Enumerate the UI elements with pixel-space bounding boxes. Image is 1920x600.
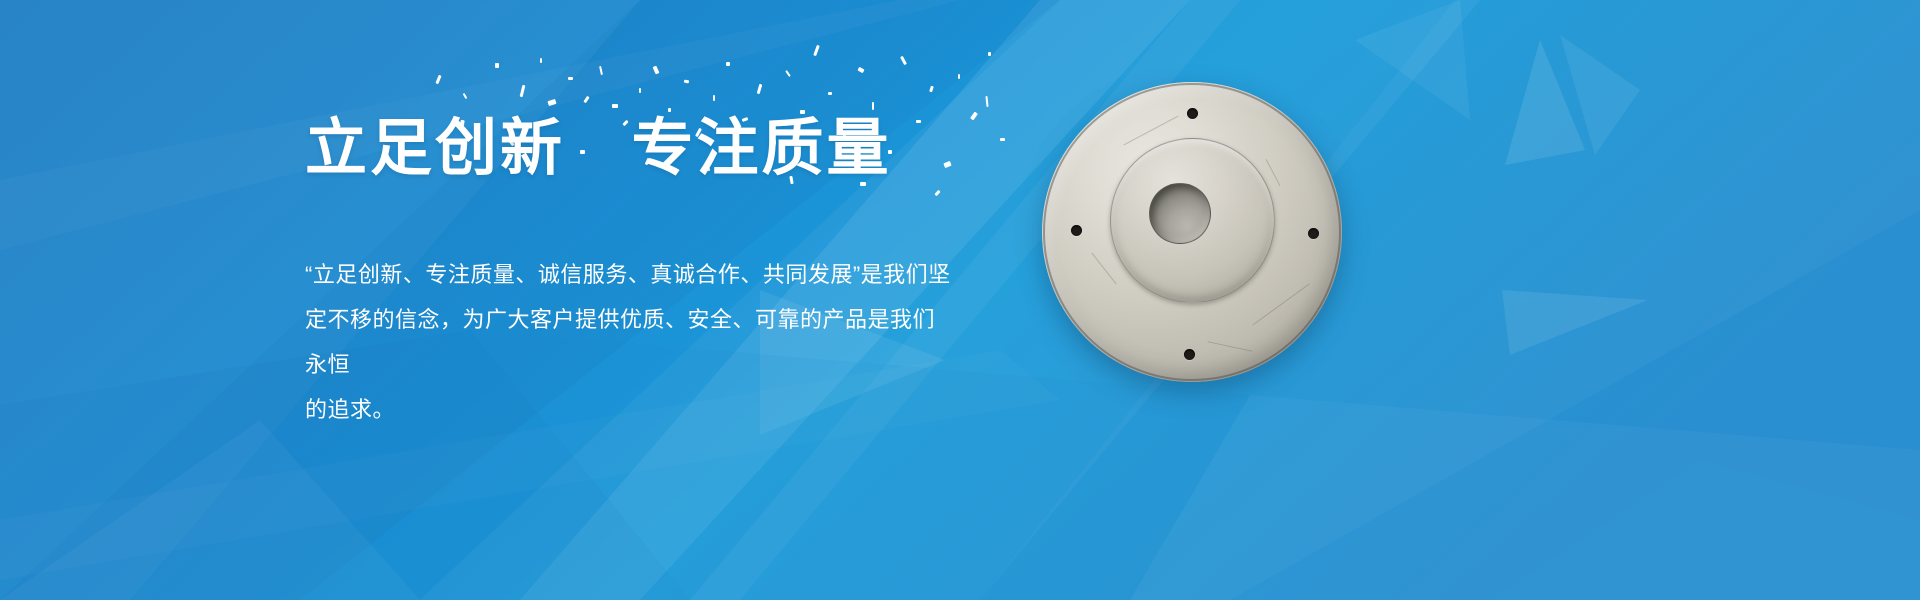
headline-part-2: 专注质量 — [631, 114, 891, 183]
description-line-1: “立足创新、专注质量、诚信服务、真诚合作、共同发展”是我们坚 — [305, 252, 955, 297]
banner-description: “立足创新、专注质量、诚信服务、真诚合作、共同发展”是我们坚 定不移的信念，为广… — [305, 252, 955, 432]
bolt-hole-left — [1071, 225, 1082, 236]
product-flange-image — [1042, 82, 1342, 382]
hero-banner: 立足创新 专注质量 “立足创新、专注质量、诚信服务、真诚合作、共同发展”是我们坚… — [0, 0, 1920, 600]
bolt-hole-bottom — [1184, 349, 1195, 360]
description-line-3: 的追求。 — [305, 387, 955, 432]
description-line-2: 定不移的信念，为广大客户提供优质、安全、可靠的产品是我们永恒 — [305, 297, 955, 387]
flange-outer-disc — [1042, 82, 1342, 382]
bolt-hole-right — [1308, 228, 1319, 239]
headline-part-1: 立足创新 — [305, 114, 565, 183]
flange-center-bore — [1149, 183, 1211, 245]
background-facets — [0, 0, 1920, 600]
banner-headline: 立足创新 专注质量 — [305, 118, 892, 180]
shatter-particles — [0, 0, 1920, 600]
bolt-hole-top — [1187, 108, 1198, 119]
